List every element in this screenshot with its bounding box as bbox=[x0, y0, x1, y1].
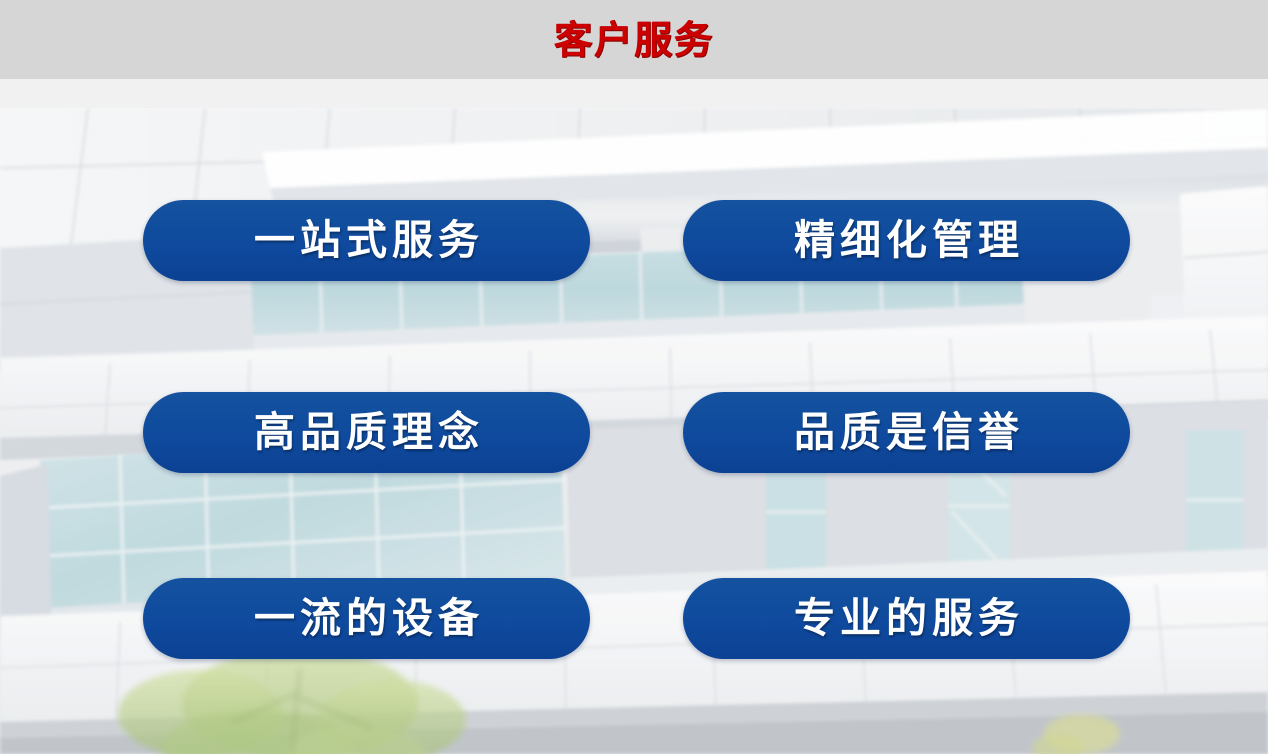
feature-pill-label: 高品质理念 bbox=[249, 412, 484, 453]
customer-service-banner: 客户服务 bbox=[0, 0, 1268, 754]
feature-pill-first-class-equipment[interactable]: 一流的设备 bbox=[143, 578, 590, 659]
feature-pill-label: 精细化管理 bbox=[789, 220, 1024, 261]
feature-pill-refined-management[interactable]: 精细化管理 bbox=[683, 200, 1130, 281]
feature-pill-professional-service[interactable]: 专业的服务 bbox=[683, 578, 1130, 659]
feature-pill-one-stop-service[interactable]: 一站式服务 bbox=[143, 200, 590, 281]
feature-pill-label: 一流的设备 bbox=[249, 598, 484, 639]
feature-pill-label: 品质是信誉 bbox=[789, 412, 1024, 453]
feature-pill-quality-is-credit[interactable]: 品质是信誉 bbox=[683, 392, 1130, 473]
feature-pill-high-quality-concept[interactable]: 高品质理念 bbox=[143, 392, 590, 473]
feature-pill-label: 专业的服务 bbox=[789, 598, 1024, 639]
feature-pill-grid: 一站式服务 精细化管理 高品质理念 品质是信誉 一流的设备 专业的服务 bbox=[0, 0, 1268, 754]
feature-pill-label: 一站式服务 bbox=[249, 220, 484, 261]
